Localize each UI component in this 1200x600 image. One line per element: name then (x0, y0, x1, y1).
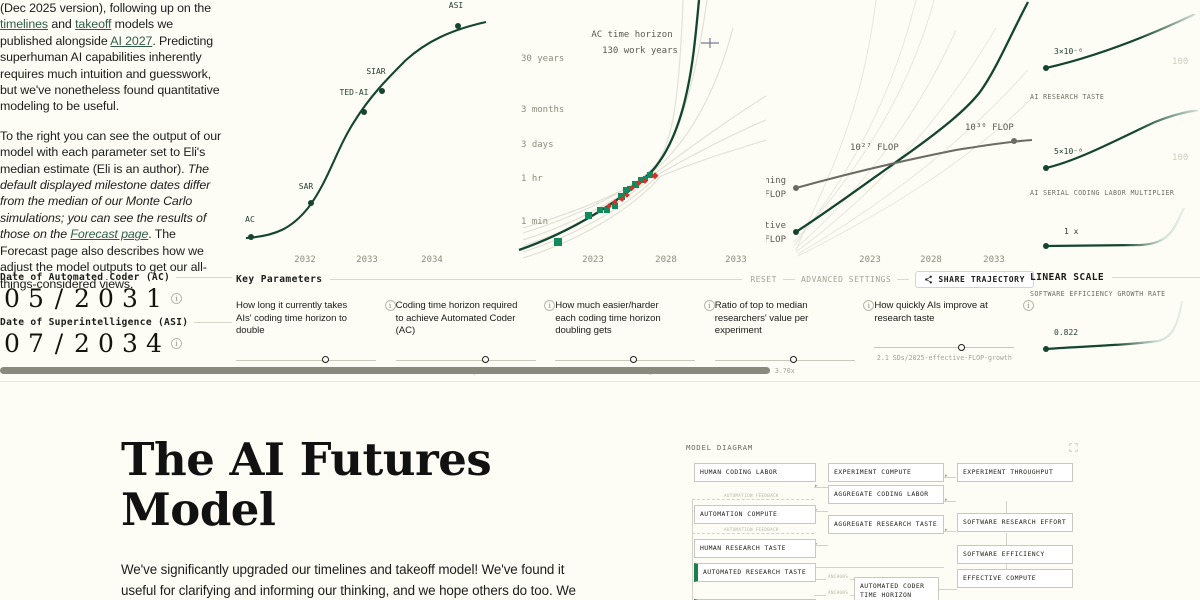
milestone-label-asi: ASI (449, 1, 464, 10)
parameter-label: How long it currently takes AIs' coding … (236, 300, 362, 338)
slider-knob[interactable] (322, 356, 329, 363)
x-tick: 2023 (582, 255, 604, 265)
y-tick: 1 hr (521, 174, 543, 184)
mini-start-label: 5×10⁻⁸ (1054, 147, 1083, 156)
slider-track[interactable] (396, 360, 536, 361)
slider-track[interactable] (236, 360, 376, 361)
diagram-node-software-research-effort[interactable]: SOFTWARE RESEARCH EFFORT (957, 513, 1073, 532)
slider-knob[interactable] (482, 356, 489, 363)
mini-chart-research-taste[interactable]: 3×10⁻⁶ 100 AI RESEARCH TASTE (1030, 14, 1200, 102)
training-compute-start (793, 185, 799, 191)
parameter-label: Coding time horizon required to achieve … (396, 300, 522, 338)
mini-curve (1046, 301, 1182, 349)
key-parameters-header: Key Parameters RESET ADVANCED SETTINGS S… (236, 272, 1034, 286)
key-parameters: Key Parameters RESET ADVANCED SETTINGS S… (236, 272, 1034, 375)
model-app-panel: (Dec 2025 version), following up on the … (0, 0, 1200, 382)
diagram-node-automated-research-taste[interactable]: AUTOMATED RESEARCH TASTE (694, 563, 816, 582)
divider-rule (1112, 277, 1200, 278)
lower-section: The AI Futures Model We've significantly… (0, 383, 1200, 600)
share-trajectory-button[interactable]: SHARE TRAJECTORY (915, 271, 1034, 288)
parameter-head: Coding time horizon required to achieve … (396, 300, 556, 338)
intro-prose: (Dec 2025 version), following up on the … (0, 0, 232, 305)
training-compute-end (1011, 138, 1017, 144)
edge-label-automation-feedback-1: AUTOMATION FEEDBACK (722, 494, 781, 499)
edge-automation-feedback-2 (692, 533, 814, 534)
info-icon[interactable]: i (385, 300, 396, 311)
model-diagram-body: AUTOMATION FEEDBACK AUTOMATION FEEDBACK … (686, 459, 1078, 600)
edge-art-to-ec (814, 567, 944, 568)
mini-chart-multiplier-linear[interactable]: 1 x (1030, 208, 1200, 265)
edge-label-anchors-1: ANCHORS (826, 575, 850, 580)
effective-value: 10¹⁷ FLOP (766, 235, 787, 245)
parameter-slider[interactable] (236, 360, 376, 361)
x-tick: 2028 (655, 255, 677, 265)
milestone-label-sar: SAR (299, 182, 314, 191)
model-diagram-header: MODEL DIAGRAM (686, 443, 1078, 452)
date-digit[interactable]: 0 (94, 284, 118, 313)
date-digit[interactable]: 3 (118, 329, 142, 358)
intro-text-1: (Dec 2025 version), following up on the (0, 1, 211, 15)
y-tick: 3 days (521, 140, 554, 150)
date-digit[interactable]: 2 (70, 329, 94, 358)
date-label-ac-row: Date of Automated Coder (AC) (0, 272, 232, 283)
parameter-slider[interactable] (555, 360, 695, 361)
info-icon[interactable]: i (171, 293, 182, 304)
diagram-node-human-research-taste[interactable]: HUMAN RESEARCH TASTE (694, 539, 816, 558)
mini-start-label: 3×10⁻⁶ (1054, 47, 1083, 56)
link-forecast-page[interactable]: Forecast page (70, 227, 148, 241)
x-tick: 2033 (983, 255, 1005, 265)
mini-start-point (1043, 165, 1049, 171)
diagram-node-effective-compute[interactable]: EFFECTIVE COMPUTE (957, 569, 1073, 588)
compute-mid-label: 10²⁷ FLOP (850, 143, 899, 153)
effective-compute-start (793, 229, 799, 235)
training-label: Training (766, 176, 786, 186)
arrow-icon: ▸ (945, 528, 948, 533)
edge-label-anchors-2: ANCHORS (826, 591, 850, 596)
date-separator: / (48, 284, 70, 313)
parameter-slider[interactable] (396, 360, 536, 361)
slider-knob[interactable] (958, 344, 965, 351)
diagram-node-aggregate-research-taste[interactable]: AGGREGATE RESEARCH TASTE (828, 515, 944, 534)
trajectory-curve (246, 22, 486, 238)
date-label-asi-row: Date of Superintelligence (ASI) (0, 317, 232, 328)
edge-vertical-feedback (692, 499, 693, 600)
info-icon[interactable]: i (171, 338, 182, 349)
mini-end-label: 100 (1172, 57, 1188, 67)
divider-rule (330, 279, 742, 280)
date-digit[interactable]: 5 (24, 284, 48, 313)
ac-horizon-value: 130 work years (602, 46, 678, 56)
info-icon[interactable]: i (544, 300, 555, 311)
parameter-item-0: How long it currently takes AIs' coding … (236, 300, 396, 375)
date-block-ac: Date of Automated Coder (AC) 0 5 / 2 0 3… (0, 272, 232, 313)
mini-mid-label: 1 x (1064, 227, 1079, 236)
training-value: 10²³ FLOP (766, 190, 787, 200)
parameter-head: How quickly AIs improve at research tast… (874, 300, 1034, 325)
mini-charts-column: 3×10⁻⁶ 100 AI RESEARCH TASTE 5×10⁻⁸ (1030, 0, 1200, 382)
slider-track[interactable] (555, 360, 695, 361)
link-takeoff[interactable]: takeoff (75, 17, 111, 31)
mini-chart-coding-labor-multiplier[interactable]: 5×10⁻⁸ 100 AI SERIAL CODING LABOR MULTIP… (1030, 110, 1200, 198)
parameter-head: Ratio of top to median researchers' valu… (715, 300, 875, 338)
info-icon[interactable]: i (704, 300, 715, 311)
date-label-ac: Date of Automated Coder (AC) (0, 272, 170, 283)
diagram-node-software-efficiency[interactable]: SOFTWARE EFFICIENCY (957, 545, 1073, 564)
parameter-slider[interactable] (715, 360, 855, 361)
edge-sre-to-se (1006, 533, 1007, 545)
edge-acth-to-effective (939, 589, 957, 590)
parameter-label: How quickly AIs improve at research tast… (874, 300, 1000, 325)
ac-threshold-marker (701, 38, 719, 48)
date-digit[interactable]: 0 (0, 329, 24, 358)
arrow-icon: ▸ (945, 474, 948, 479)
mini-start-label: 0.822 (1054, 328, 1078, 337)
hero-body: We've significantly upgraded our timelin… (121, 559, 591, 600)
effective-label: Effective (766, 221, 786, 231)
arrow-icon: ▸ (945, 498, 948, 503)
parameter-item-2: How much easier/harder each coding time … (555, 300, 715, 375)
slider-knob[interactable] (790, 356, 797, 363)
compute-end-label: 10³⁰ FLOP (965, 123, 1014, 133)
edge-label-automation-feedback-2: AUTOMATION FEEDBACK (722, 528, 781, 533)
x-tick: 2033 (356, 255, 378, 265)
mini-start-point (1043, 346, 1049, 352)
slider-knob[interactable] (630, 356, 637, 363)
diagram-node-aggregate-coding-labor[interactable]: AGGREGATE CODING LABOR (828, 485, 944, 504)
parameter-value: 2.1 SDs/2025-effective-FLOP-growth (874, 354, 1014, 362)
diagram-node-experiment-compute[interactable]: EXPERIMENT COMPUTE (828, 463, 944, 482)
date-digit[interactable]: 1 (142, 284, 166, 313)
y-tick: 1 min (521, 217, 548, 227)
milestone-points (248, 23, 461, 240)
mini-caption: AI RESEARCH TASTE (1030, 93, 1200, 102)
info-icon[interactable]: i (863, 300, 874, 311)
ac-horizon-label: AC time horizon (591, 30, 672, 40)
intro-paragraph-1: (Dec 2025 version), following up on the … (0, 0, 224, 115)
x-tick: 2032 (294, 255, 316, 265)
date-separator: / (48, 329, 70, 358)
date-digit[interactable]: 3 (118, 284, 142, 313)
arrow-icon: ▸ (815, 484, 818, 489)
date-label-asi: Date of Superintelligence (ASI) (0, 317, 188, 328)
key-parameters-actions: RESET ADVANCED SETTINGS SHARE TRAJECTORY (750, 271, 1034, 288)
x-tick: 2023 (859, 255, 881, 265)
date-digit[interactable]: 7 (24, 329, 48, 358)
expand-icon[interactable] (1069, 443, 1078, 452)
parameter-head: How much easier/harder each coding time … (555, 300, 715, 338)
diagram-node-human-coding-labor[interactable]: HUMAN CODING LABOR (694, 463, 816, 482)
parameter-item-3: Ratio of top to median researchers' valu… (715, 300, 875, 375)
date-digit[interactable]: 0 (0, 284, 24, 313)
parameter-item-1: Coding time horizon required to achieve … (396, 300, 556, 375)
parameter-slider[interactable] (874, 347, 1014, 348)
x-tick: 2033 (725, 255, 747, 265)
parameter-head: How long it currently takes AIs' coding … (236, 300, 396, 338)
slider-track[interactable] (874, 347, 1014, 348)
linear-scale-caption: SOFTWARE EFFICIENCY GROWTH RATE (1030, 290, 1200, 299)
parameter-item-4: How quickly AIs improve at research tast… (874, 300, 1034, 375)
date-value-ac[interactable]: 0 5 / 2 0 3 1 i (0, 284, 232, 313)
edge-automation-feedback-1 (692, 499, 814, 500)
date-digit[interactable]: 4 (142, 329, 166, 358)
page-root: (Dec 2025 version), following up on the … (0, 0, 1200, 600)
divider-rule (194, 322, 232, 323)
date-digit[interactable]: 2 (70, 284, 94, 313)
mini-start-point (1043, 243, 1049, 249)
share-trajectory-label: SHARE TRAJECTORY (938, 275, 1025, 284)
date-block-asi: Date of Superintelligence (ASI) 0 7 / 2 … (0, 317, 232, 358)
linear-scale-title: LINEAR SCALE (1030, 272, 1104, 283)
milestone-label-siar: SIAR (366, 67, 385, 76)
divider-rule (897, 279, 909, 280)
y-tick: 30 years (521, 54, 564, 64)
advanced-settings-button[interactable]: ADVANCED SETTINGS (801, 275, 891, 284)
y-tick: 3 months (521, 105, 564, 115)
slider-track[interactable] (715, 360, 855, 361)
hero-block: The AI Futures Model We've significantly… (121, 435, 621, 600)
intro-paragraph-2: To the right you can see the output of o… (0, 128, 224, 292)
key-parameters-title: Key Parameters (236, 274, 322, 285)
diagram-node-automated-coder-time-horizon[interactable]: AUTOMATED CODER TIME HORIZON (854, 577, 939, 600)
training-compute-curve (796, 140, 1032, 188)
milestone-label-ac: AC (245, 215, 255, 224)
mini-start-point (1043, 65, 1049, 71)
mini-end-label: 100 (1172, 153, 1188, 163)
parameter-sliders: How long it currently takes AIs' coding … (236, 300, 1034, 375)
date-digit[interactable]: 0 (94, 329, 118, 358)
chart-compute[interactable]: Training 10²³ FLOP Effective 10¹⁷ FLOP 1… (766, 0, 1036, 268)
effective-compute-curve (796, 2, 1028, 232)
date-value-asi[interactable]: 0 7 / 2 0 3 4 i (0, 329, 232, 358)
link-timelines[interactable]: timelines (0, 17, 48, 31)
diagram-node-experiment-throughput[interactable]: EXPERIMENT THROUGHPUT (957, 463, 1073, 482)
parameter-label: How much easier/harder each coding time … (555, 300, 681, 338)
divider-rule (176, 277, 232, 278)
section-divider (0, 381, 1200, 382)
diagram-node-automation-compute[interactable]: AUTOMATION COMPUTE (694, 505, 816, 524)
linear-scale-header: LINEAR SCALE (1030, 272, 1200, 283)
model-diagram-title: MODEL DIAGRAM (686, 443, 753, 452)
milestone-label-tedai: TED-AI (340, 88, 369, 97)
horizontal-scrollbar[interactable] (0, 367, 770, 374)
page-title: The AI Futures Model (121, 435, 621, 535)
milestone-dates: Date of Automated Coder (AC) 0 5 / 2 0 3… (0, 272, 232, 362)
reset-button[interactable]: RESET (750, 275, 777, 284)
x-tick: 2034 (421, 255, 443, 265)
intro-text-2: and (48, 17, 75, 31)
mini-caption: AI SERIAL CODING LABOR MULTIPLIER (1030, 189, 1200, 198)
model-diagram: MODEL DIAGRAM (686, 443, 1078, 600)
divider-rule (783, 279, 795, 280)
link-ai-2027[interactable]: AI 2027 (110, 34, 152, 48)
chart-coding-time-horizon[interactable]: AC time horizon 130 work years 30 years … (501, 0, 766, 268)
charts-row: AC SAR TED-AI SIAR ASI 2032 2033 2034 (236, 0, 1036, 268)
x-tick: 2028 (920, 255, 942, 265)
parameter-label: Ratio of top to median researchers' valu… (715, 300, 841, 338)
mini-panel-linear-scale: LINEAR SCALE SOFTWARE EFFICIENCY GROWTH … (1030, 272, 1200, 372)
share-icon (924, 275, 933, 284)
edge-throughput-to-sre (1006, 501, 1007, 513)
chart-milestone-trajectory[interactable]: AC SAR TED-AI SIAR ASI 2032 2033 2034 (236, 0, 501, 268)
